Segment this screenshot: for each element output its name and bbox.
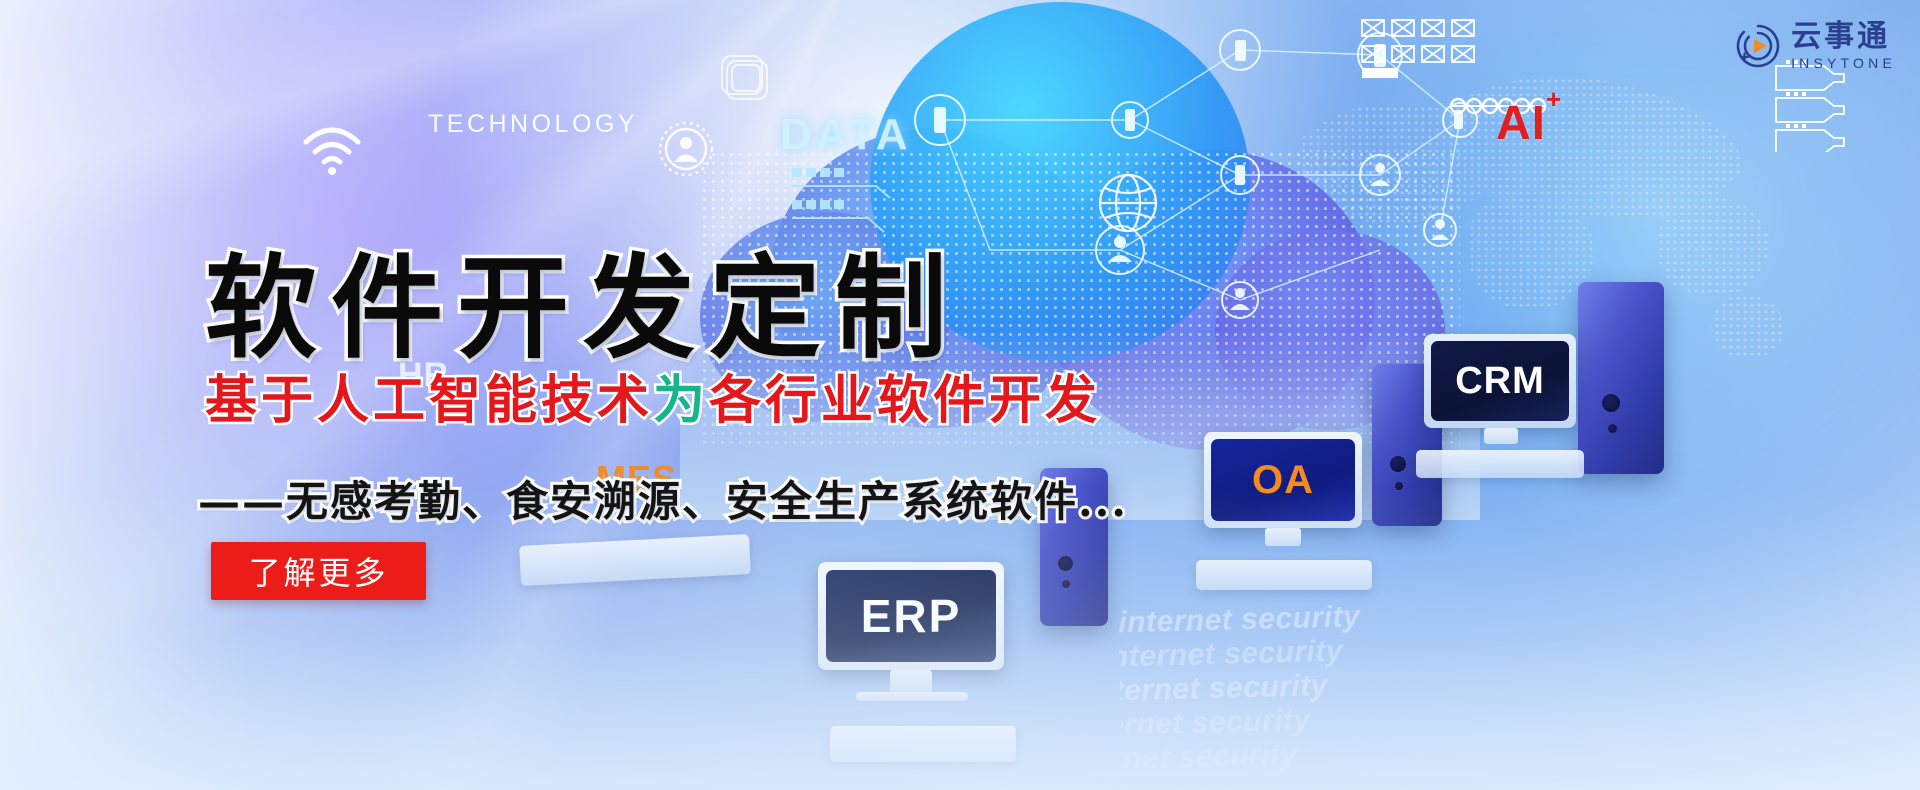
hero-tagline: ——无感考勤、食安溯源、安全生产系统软件... xyxy=(198,468,1128,529)
keyboard-crm xyxy=(1416,450,1584,478)
data-label: DATA xyxy=(780,110,912,160)
monitor-crm-stand xyxy=(1484,428,1518,444)
ai-superscript: + xyxy=(1546,84,1562,114)
insytone-logo-icon xyxy=(1735,23,1781,69)
technology-label: TECHNOLOGY xyxy=(428,110,638,139)
background-fade-bottom xyxy=(0,490,1920,790)
brand-wordmark: 云事通 INSYTONE xyxy=(1791,22,1896,70)
brand-name-en: INSYTONE xyxy=(1791,56,1896,70)
subline-part-1: 基于人工智能技术 xyxy=(205,370,653,431)
monitor-crm-label: CRM xyxy=(1431,341,1569,421)
page-title: 软件开发定制 xyxy=(205,250,961,368)
brand-name-cn: 云事通 xyxy=(1791,22,1896,52)
hero-banner: internet security internet security inte… xyxy=(0,0,1920,790)
subline-part-3: 各行业软件开发 xyxy=(709,370,1101,431)
learn-more-button[interactable]: 了解更多 xyxy=(211,542,426,600)
brand-logo[interactable]: 云事通 INSYTONE xyxy=(1735,22,1896,70)
ai-text: AI xyxy=(1496,97,1546,150)
ai-plus-label: AI+ xyxy=(1496,96,1562,151)
computer-tower-right xyxy=(1578,282,1664,474)
hero-subline: 基于人工智能技术为各行业软件开发 xyxy=(205,372,1101,429)
subline-part-2: 为 xyxy=(653,370,709,431)
